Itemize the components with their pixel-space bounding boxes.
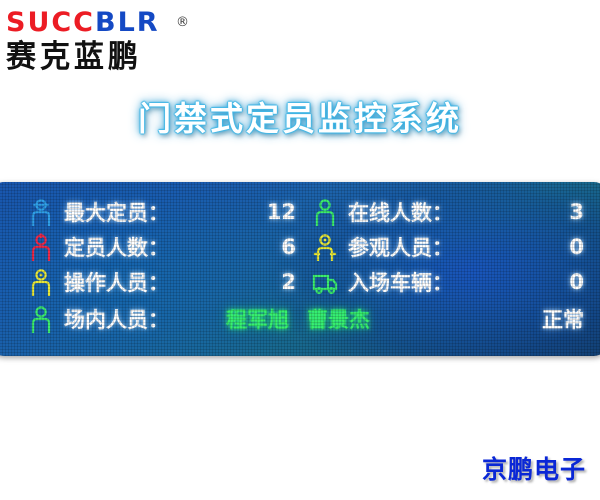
person-online-icon (312, 198, 338, 226)
led-value: 6 (281, 235, 296, 259)
status-badge: 正常 (542, 304, 584, 334)
onsite-name-list: 程军旭 曹景杰 (226, 304, 370, 334)
footer-company-name: 京鹏电子 (482, 450, 586, 486)
led-display-panel: 最大定员： 12 定员人数： 6 操作人 (0, 182, 600, 356)
person-worker-icon (28, 268, 54, 296)
led-row-operators: 操作人员： 2 (28, 265, 296, 298)
led-value: 0 (569, 270, 584, 294)
person-helmet-icon (28, 233, 54, 261)
led-label: 参观人员： (348, 232, 453, 262)
led-row-visitors: 参观人员： 0 (312, 230, 584, 263)
led-label: 场内人员： (64, 304, 169, 334)
led-label: 定员人数： (64, 232, 169, 262)
person-plain-icon (28, 305, 54, 333)
led-row-vehicles: 入场车辆： 0 (312, 265, 584, 298)
registered-trademark-icon: ® (176, 8, 191, 38)
led-row-staff-count: 定员人数： 6 (28, 230, 296, 263)
led-label: 在线人数： (348, 197, 453, 227)
led-row-onsite-names: 程军旭 曹景杰 正常 (210, 302, 584, 335)
company-logo: SUCCBLR ® 赛克蓝鹏 (6, 8, 236, 76)
list-item: 曹景杰 (307, 304, 370, 334)
logo-wordmark-succ: SUCC (6, 7, 95, 38)
logo-wordmark-blr: BLR (95, 7, 160, 38)
list-item: 程军旭 (226, 304, 289, 334)
person-cap-icon (28, 198, 54, 226)
person-visitor-icon (312, 233, 338, 261)
led-row-max-capacity: 最大定员： 12 (28, 195, 296, 228)
led-value: 12 (267, 200, 296, 224)
led-value: 0 (569, 235, 584, 259)
led-label: 操作人员： (64, 267, 169, 297)
truck-icon (312, 268, 338, 296)
led-row-online-count: 在线人数： 3 (312, 195, 584, 228)
led-label: 入场车辆： (348, 267, 453, 297)
logo-wordmark: SUCCBLR ® (6, 8, 236, 38)
logo-chinese-name: 赛克蓝鹏 (6, 39, 229, 75)
led-label: 最大定员： (64, 197, 169, 227)
led-value: 3 (569, 200, 584, 224)
page-title: 门禁式定员监控系统 (0, 92, 600, 140)
led-value: 2 (281, 270, 296, 294)
